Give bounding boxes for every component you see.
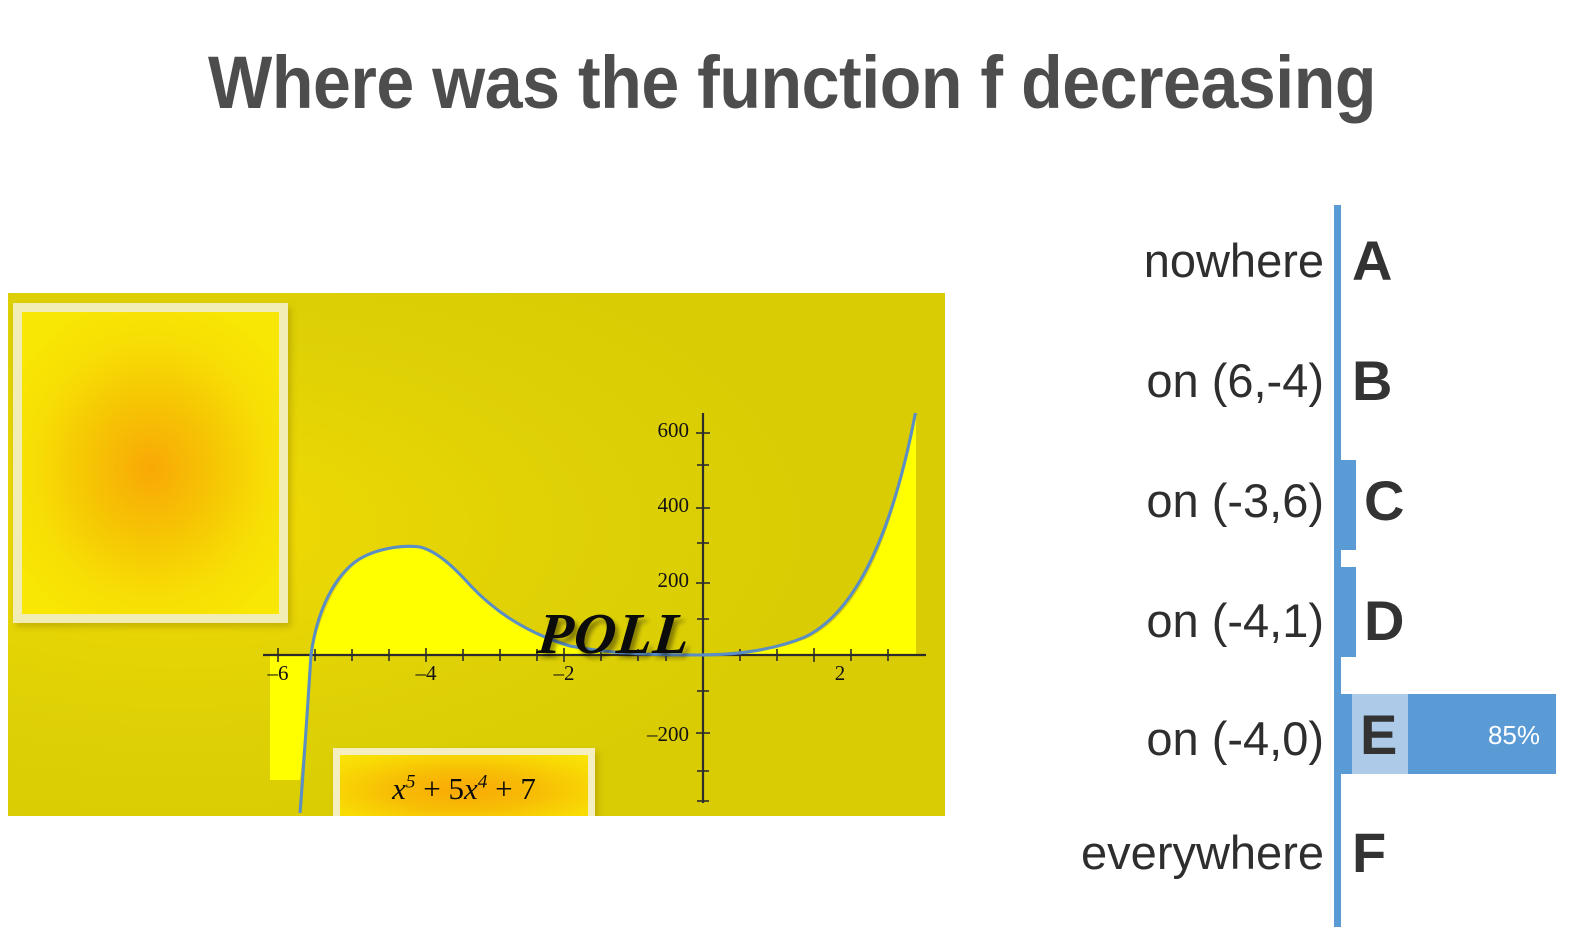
poll-row-a[interactable]: nowhere A — [960, 208, 1584, 312]
slide-panel: –6 –4 –2 2 600 400 200 –200 POLL x5 + 5x… — [8, 293, 945, 816]
y-tick-label: 600 — [658, 418, 690, 442]
x-tick-label: 2 — [835, 661, 846, 685]
poll-option-label-a: nowhere — [960, 208, 1324, 312]
poll-row-c[interactable]: on (-3,6) C — [960, 448, 1584, 552]
formula-text: x5 + 5x4 + 7 — [392, 771, 536, 807]
poll-option-label-b: on (6,-4) — [960, 328, 1324, 432]
poll-bar-c — [1336, 460, 1356, 550]
poll-bar-d — [1336, 567, 1356, 657]
formula-box: x5 + 5x4 + 7 — [333, 748, 595, 816]
poll-row-b[interactable]: on (6,-4) B — [960, 328, 1584, 432]
poll-letter-c: C — [1364, 448, 1404, 552]
poll-row-d[interactable]: on (-4,1) D — [960, 568, 1584, 672]
x-tick-label: –6 — [267, 661, 289, 685]
function-plot: –6 –4 –2 2 600 400 200 –200 — [8, 293, 945, 816]
poll-results: nowhere A on (6,-4) B on (-3,6) C on (-4… — [960, 190, 1584, 935]
y-tick-label: 200 — [658, 568, 690, 592]
poll-letter-f: F — [1352, 800, 1386, 904]
y-tick-label: –200 — [646, 722, 689, 746]
poll-letter-b: B — [1352, 328, 1392, 432]
poll-wordart: POLL — [535, 605, 693, 663]
poll-option-label-e: on (-4,0) — [960, 686, 1324, 790]
poll-row-e[interactable]: on (-4,0) 85% E — [960, 686, 1584, 790]
x-tick-label: –4 — [415, 661, 438, 685]
poll-option-label-d: on (-4,1) — [960, 568, 1324, 672]
page-title: Where was the function f decreasing — [63, 40, 1520, 126]
y-tick-label: 400 — [658, 493, 690, 517]
poll-percent-e: 85% — [1488, 720, 1540, 751]
poll-row-f[interactable]: everywhere F — [960, 800, 1584, 904]
poll-letter-a: A — [1352, 208, 1392, 312]
poll-letter-d: D — [1364, 568, 1404, 672]
poll-letter-e: E — [1360, 694, 1397, 774]
poll-option-label-c: on (-3,6) — [960, 448, 1324, 552]
poll-option-label-f: everywhere — [960, 800, 1324, 904]
